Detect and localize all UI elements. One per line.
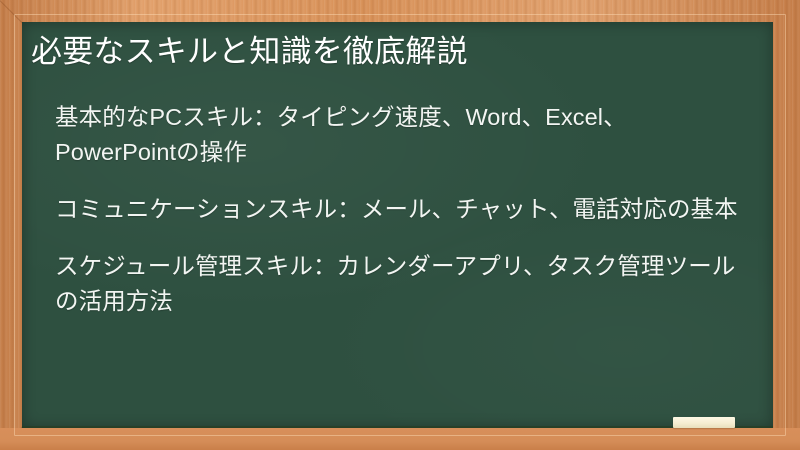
blackboard-surface: 必要なスキルと知識を徹底解説 基本的なPCスキル：タイピング速度、Word、Ex… <box>22 22 773 428</box>
blackboard-slide: 必要なスキルと知識を徹底解説 基本的なPCスキル：タイピング速度、Word、Ex… <box>0 0 800 450</box>
chalk-stick-icon <box>673 417 735 428</box>
list-item: 基本的なPCスキル：タイピング速度、Word、Excel、PowerPointの… <box>55 100 747 170</box>
list-item: スケジュール管理スキル：カレンダーアプリ、タスク管理ツールの活用方法 <box>55 249 747 319</box>
bullet-list: 基本的なPCスキル：タイピング速度、Word、Excel、PowerPointの… <box>55 100 747 319</box>
list-item: コミュニケーションスキル：メール、チャット、電話対応の基本 <box>55 192 747 227</box>
slide-title: 必要なスキルと知識を徹底解説 <box>31 32 468 72</box>
board-bottom-edge <box>22 426 773 428</box>
